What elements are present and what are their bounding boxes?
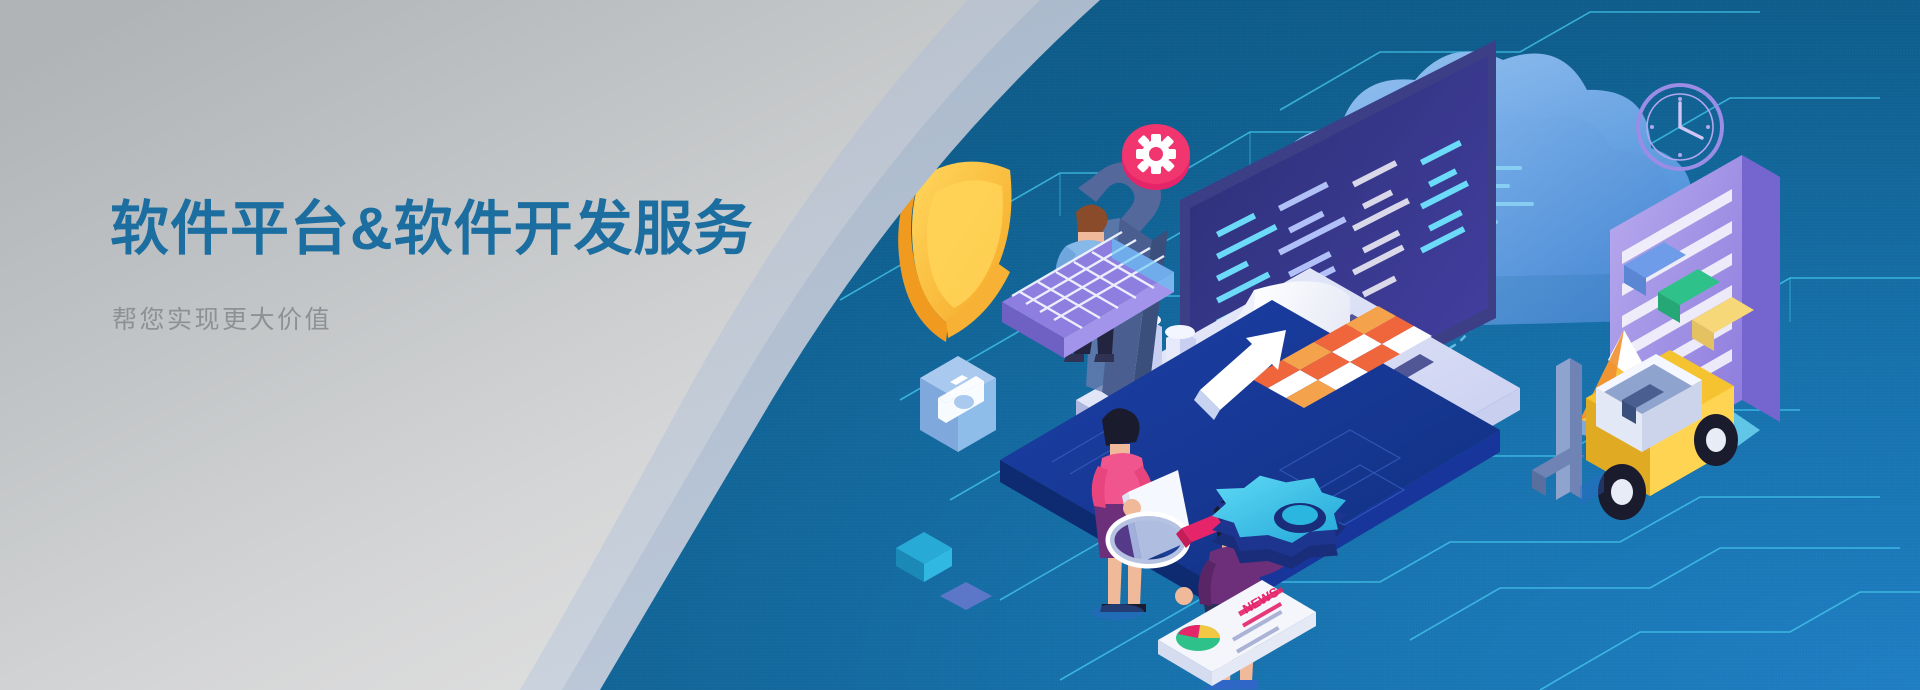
- promo-banner: NEWS: [0, 0, 1920, 690]
- page-subtitle: 帮您实现更大价值: [112, 300, 870, 336]
- page-title: 软件平台&软件开发服务: [110, 196, 870, 262]
- gear-badge-icon: [1122, 124, 1190, 190]
- clock-icon: [1638, 85, 1722, 169]
- pie-chart-icon: [1176, 625, 1220, 651]
- grey-curve-panel: [0, 0, 1100, 690]
- banner-copy: 软件平台&软件开发服务 帮您实现更大价值: [110, 196, 870, 336]
- forklift-vehicle: [1532, 350, 1738, 520]
